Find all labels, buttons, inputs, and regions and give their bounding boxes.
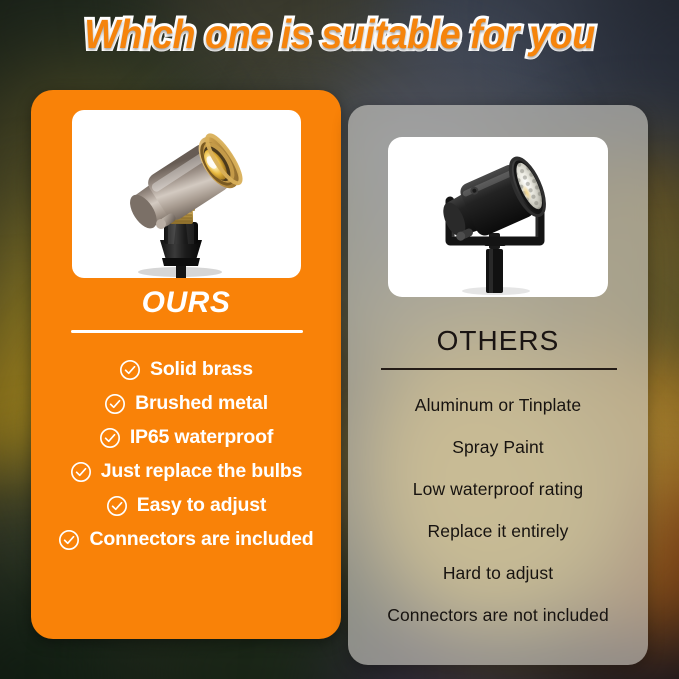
list-item: Solid brass — [119, 358, 253, 381]
circle-check-icon — [119, 359, 141, 381]
circle-check-icon — [70, 461, 92, 483]
circle-check-icon — [58, 529, 80, 551]
list-item: Just replace the bulbs — [70, 460, 303, 483]
list-item: Easy to adjust — [106, 494, 266, 517]
ours-feature-list: Solid brass Brushed metal IP65 waterproo… — [31, 358, 341, 551]
circle-check-icon — [106, 495, 128, 517]
list-item: Spray Paint — [452, 437, 544, 458]
list-item-label: Just replace the bulbs — [101, 460, 303, 483]
list-item: Connectors are not included — [387, 605, 609, 626]
page-title: Which one is suitable for you — [27, 12, 652, 56]
circle-check-icon — [99, 427, 121, 449]
others-divider — [381, 368, 617, 370]
list-item: Aluminum or Tinplate — [415, 395, 581, 416]
list-item-label: Brushed metal — [135, 392, 268, 415]
ours-heading: OURS — [31, 286, 341, 320]
list-item: Low waterproof rating — [413, 479, 583, 500]
ours-card: OURS Solid brass Brushed metal IP65 wate… — [31, 90, 341, 639]
ours-product-image — [72, 110, 301, 278]
list-item: Connectors are included — [58, 528, 313, 551]
list-item: Hard to adjust — [443, 563, 553, 584]
others-card: OTHERS Aluminum or Tinplate Spray Paint … — [348, 105, 648, 665]
list-item: Replace it entirely — [428, 521, 569, 542]
ours-divider — [71, 330, 303, 333]
list-item-label: Connectors are included — [89, 528, 313, 551]
others-product-image — [388, 137, 608, 297]
others-heading: OTHERS — [348, 325, 648, 357]
list-item: Brushed metal — [104, 392, 268, 415]
list-item-label: IP65 waterproof — [130, 426, 273, 449]
list-item-label: Solid brass — [150, 358, 253, 381]
circle-check-icon — [104, 393, 126, 415]
others-feature-list: Aluminum or Tinplate Spray Paint Low wat… — [348, 395, 648, 626]
list-item-label: Easy to adjust — [137, 494, 266, 517]
comparison-infographic: Which one is suitable for you — [0, 0, 679, 679]
list-item: IP65 waterproof — [99, 426, 273, 449]
